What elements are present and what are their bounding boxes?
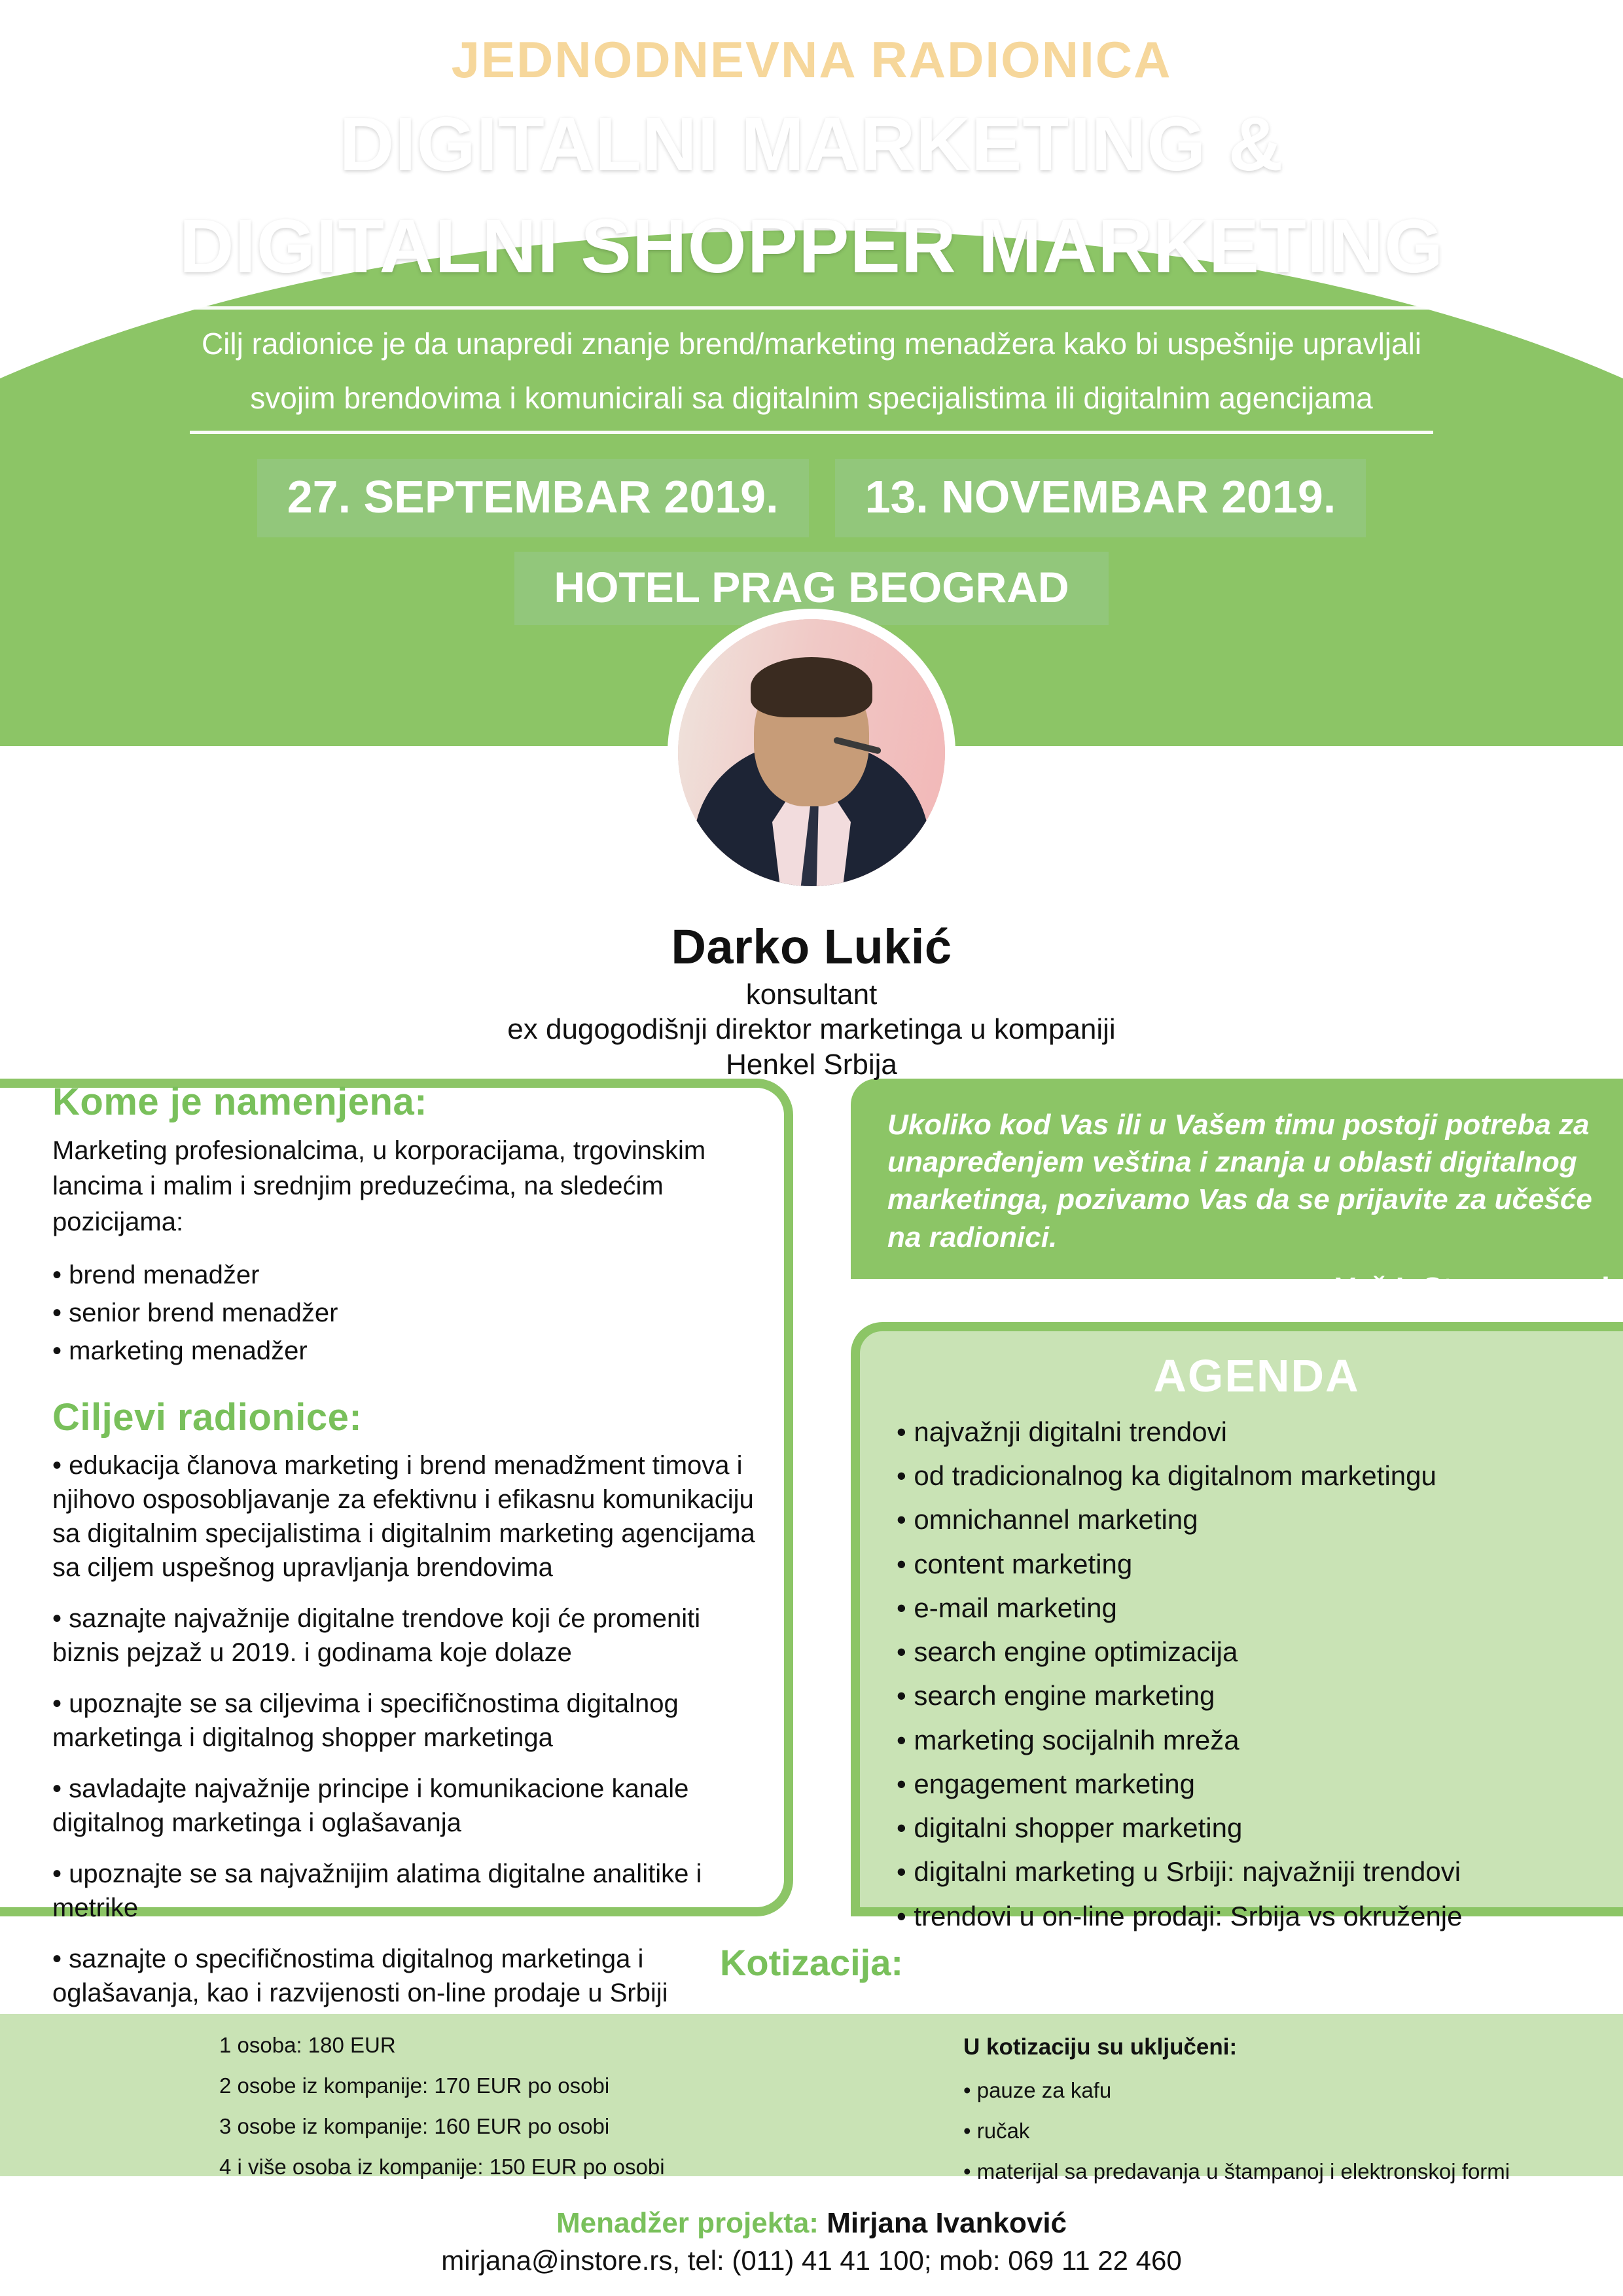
list-item: 2 osobe iz kompanije: 170 EUR po osobi [219,2075,939,2096]
fees-included: U kotizaciju su uključeni: • pauze za ka… [963,2034,1605,2201]
fees-title: Kotizacija: [0,1941,1623,1984]
list-item: • digitalni marketing u Srbiji: najvažni… [897,1855,1623,1888]
poster-title-line-1: DIGITALNI MARKETING & [0,102,1623,187]
audience-intro: Marketing profesionalcima, u korporacija… [52,1133,766,1240]
workshop-kicker: JEDNODNEVNA RADIONICA [0,22,1623,85]
list-item: • saznajte najvažnije digitalne trendove… [52,1602,766,1670]
project-manager-line: Menadžer projekta: Mirjana Ivanković [0,2207,1623,2240]
title-divider-bottom [190,431,1433,434]
goals-heading: Ciljevi radionice: [52,1395,766,1439]
left-column-content: Kome je namenjena: Marketing profesional… [52,1080,766,2010]
contact-details: mirjana@instore.rs, tel: (011) 41 41 100… [0,2245,1623,2276]
list-item: • search engine marketing [897,1679,1623,1712]
list-item: • upoznajte se sa najvažnijim alatima di… [52,1857,766,1925]
fees-prices: 1 osoba: 180 EUR 2 osobe iz kompanije: 1… [219,2034,939,2197]
poster-title-line-2: DIGITALNI SHOPPER MARKETING [0,204,1623,289]
date-row: 27. SEPTEMBAR 2019. 13. NOVEMBAR 2019. [0,459,1623,537]
speaker-avatar [668,609,955,897]
agenda-list: • najvažnji digitalni trendovi • od trad… [860,1415,1623,1933]
project-manager-name: Mirjana Ivanković [827,2207,1067,2239]
list-item: • od tradicionalnog ka digitalnom market… [897,1459,1623,1492]
speaker-org-line-1: ex dugogodišnji direktor marketinga u ko… [0,1013,1623,1047]
speaker-name: Darko Lukić [0,919,1623,975]
title-divider-top [190,306,1433,310]
list-item: • engagement marketing [897,1767,1623,1801]
list-item: • savladajte najvažnije principe i komun… [52,1772,766,1840]
list-item: 4 i više osoba iz kompanije: 150 EUR po … [219,2156,939,2178]
list-item: • najvažnji digitalni trendovi [897,1415,1623,1448]
hero-content: JEDNODNEVNA RADIONICA DIGITALNI MARKETIN… [0,0,1623,680]
speaker-role: konsultant [0,978,1623,1011]
list-item: • search engine optimizacija [897,1635,1623,1668]
invitation-signature: Vaš InStore magazin [887,1270,1623,1306]
list-item: • omnichannel marketing [897,1503,1623,1536]
date-chip-2: 13. NOVEMBAR 2019. [835,459,1366,537]
lede-line-2: svojim brendovima i komunicirali sa digi… [131,378,1492,418]
footer-contact: Menadžer projekta: Mirjana Ivanković mir… [0,2207,1623,2276]
agenda-card: AGENDA • najvažnji digitalni trendovi • … [851,1322,1623,1916]
speaker-org-line-2: Henkel Srbija [0,1048,1623,1082]
date-chip-1: 27. SEPTEMBAR 2019. [257,459,809,537]
list-item: 3 osobe iz kompanije: 160 EUR po osobi [219,2115,939,2137]
list-item: • senior brend menadžer [52,1296,766,1330]
list-item: • marketing menadžer [52,1334,766,1368]
list-item: • pauze za kafu [963,2079,1605,2101]
project-manager-label: Menadžer projekta: [556,2207,819,2239]
lede-line-1: Cilj radionice je da unapredi znanje bre… [131,324,1492,364]
audience-heading: Kome je namenjena: [52,1080,766,1124]
agenda-heading: AGENDA [860,1350,1623,1402]
list-item: • content marketing [897,1547,1623,1581]
list-item: • upoznajte se sa ciljevima i specifično… [52,1687,766,1755]
invitation-text: Ukoliko kod Vas ili u Vašem timu postoji… [887,1106,1623,1256]
fees-included-heading: U kotizaciju su uključeni: [963,2034,1605,2060]
list-item: • trendovi u on-line prodaji: Srbija vs … [897,1899,1623,1933]
list-item: • marketing socijalnih mreža [897,1723,1623,1757]
list-item: • e-mail marketing [897,1591,1623,1624]
list-item: • edukacija članova marketing i brend me… [52,1448,766,1585]
speaker-block: Darko Lukić konsultant ex dugogodišnji d… [0,609,1623,1082]
list-item: • brend menadžer [52,1258,766,1292]
invitation-callout: Ukoliko kod Vas ili u Vašem timu postoji… [851,1079,1623,1279]
list-item: 1 osoba: 180 EUR [219,2034,939,2056]
list-item: • materijal sa predavanja u štampanoj i … [963,2161,1605,2182]
list-item: • digitalni shopper marketing [897,1811,1623,1844]
list-item: • ručak [963,2120,1605,2142]
